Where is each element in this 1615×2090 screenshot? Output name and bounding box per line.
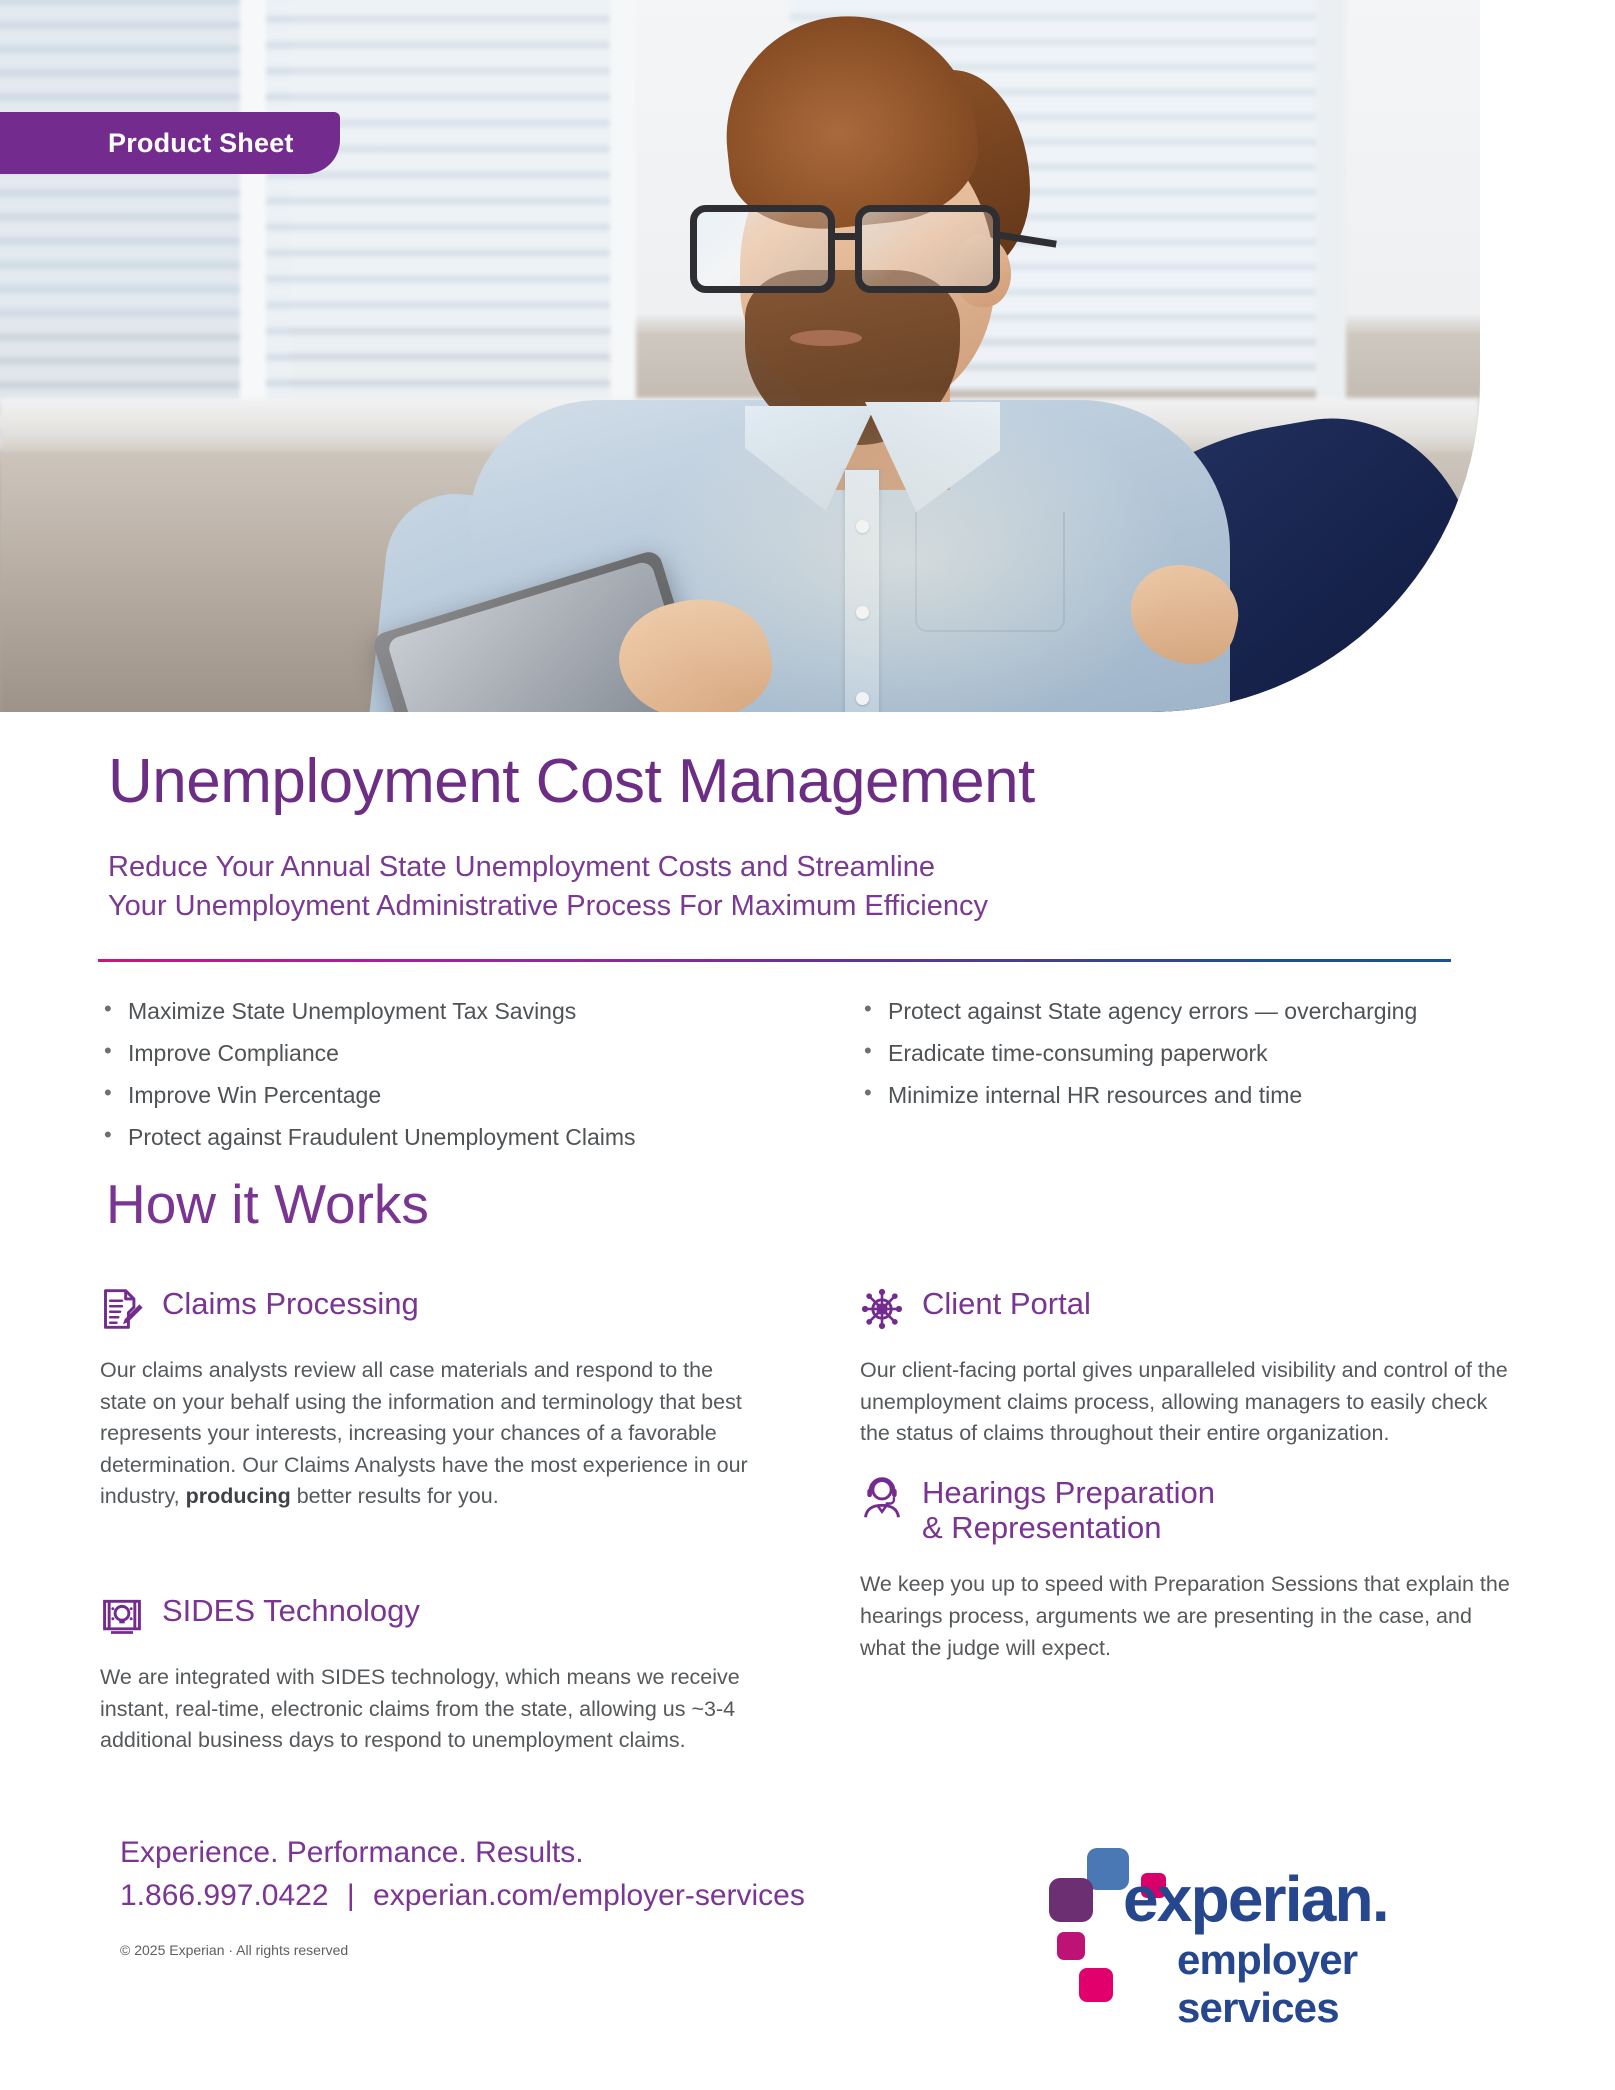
feature-body: Our claims analysts review all case mate… [100, 1355, 760, 1513]
feature-title-line-2: & Representation [922, 1510, 1162, 1545]
footer-separator: | [337, 1879, 365, 1912]
feature-body-part-2: better results for you. [291, 1484, 499, 1508]
how-it-works-heading: How it Works [106, 1172, 429, 1236]
feature-client-portal: Client Portal Our client-facing portal g… [860, 1285, 1520, 1450]
footer-contact: Experience. Performance. Results. 1.866.… [120, 1832, 805, 1917]
feature-claims-processing: Claims Processing Our claims analysts re… [100, 1285, 760, 1513]
logo-square-purple [1049, 1878, 1093, 1922]
document-pen-icon [100, 1287, 144, 1331]
logo-square-magenta [1079, 1968, 1113, 2002]
product-sheet-badge: Product Sheet [0, 112, 340, 174]
feature-hearings-preparation: Hearings Preparation & Representation We… [860, 1474, 1510, 1664]
product-sheet-badge-label: Product Sheet [108, 128, 294, 159]
list-item: Protect against Fraudulent Unemployment … [100, 1126, 800, 1149]
logo-sub-wordmark: employer services [1177, 1936, 1495, 2032]
benefits-list-right: Protect against State agency errors — ov… [860, 1000, 1560, 1126]
feature-title: Client Portal [922, 1285, 1091, 1322]
benefits-list-left: Maximize State Unemployment Tax Savings … [100, 1000, 800, 1168]
footer-copyright: © 2025 Experian · All rights reserved [120, 1942, 348, 1958]
list-item: Protect against State agency errors — ov… [860, 1000, 1560, 1023]
feature-title: SIDES Technology [162, 1592, 420, 1629]
monitor-lightbulb-icon [100, 1594, 144, 1638]
feature-title-line-1: Hearings Preparation [922, 1475, 1215, 1510]
footer: Experience. Performance. Results. 1.866.… [0, 1828, 1615, 2008]
page-subtitle-line-1: Reduce Your Annual State Unemployment Co… [108, 848, 988, 887]
hero-photo-man-with-tablet [0, 0, 1480, 712]
eyeglasses [690, 205, 1020, 297]
list-item: Minimize internal HR resources and time [860, 1084, 1560, 1107]
page-title: Unemployment Cost Management [108, 746, 1035, 817]
feature-body: We keep you up to speed with Preparation… [860, 1569, 1510, 1664]
network-hub-icon [860, 1287, 904, 1331]
logo-wordmark: experian. [1123, 1862, 1388, 1936]
list-item: Improve Win Percentage [100, 1084, 800, 1107]
page-subtitle: Reduce Your Annual State Unemployment Co… [108, 848, 988, 926]
footer-tagline: Experience. Performance. Results. [120, 1832, 805, 1875]
person-headset-icon [860, 1476, 904, 1520]
list-item: Maximize State Unemployment Tax Savings [100, 1000, 800, 1023]
list-item: Eradicate time-consuming paperwork [860, 1042, 1560, 1065]
feature-body: We are integrated with SIDES technology,… [100, 1662, 740, 1757]
feature-body-emphasis: producing [186, 1484, 291, 1508]
feature-title: Claims Processing [162, 1285, 419, 1322]
feature-title: Hearings Preparation & Representation [922, 1474, 1215, 1545]
feature-body: Our client-facing portal gives unparalle… [860, 1355, 1520, 1450]
hero-banner [0, 0, 1480, 712]
logo-square-magenta-small [1057, 1932, 1085, 1960]
product-sheet-page: Product Sheet Unemployment Cost Manageme… [0, 0, 1615, 2090]
list-item: Improve Compliance [100, 1042, 800, 1065]
page-subtitle-line-2: Your Unemployment Administrative Process… [108, 887, 988, 926]
footer-website-link[interactable]: experian.com/employer-services [373, 1879, 805, 1912]
gradient-divider [98, 959, 1451, 962]
experian-employer-services-logo: experian. employer services [1035, 1816, 1495, 2006]
feature-sides-technology: SIDES Technology We are integrated with … [100, 1592, 740, 1757]
footer-phone[interactable]: 1.866.997.0422 [120, 1879, 329, 1912]
footer-contact-line: 1.866.997.0422 | experian.com/employer-s… [120, 1875, 805, 1918]
